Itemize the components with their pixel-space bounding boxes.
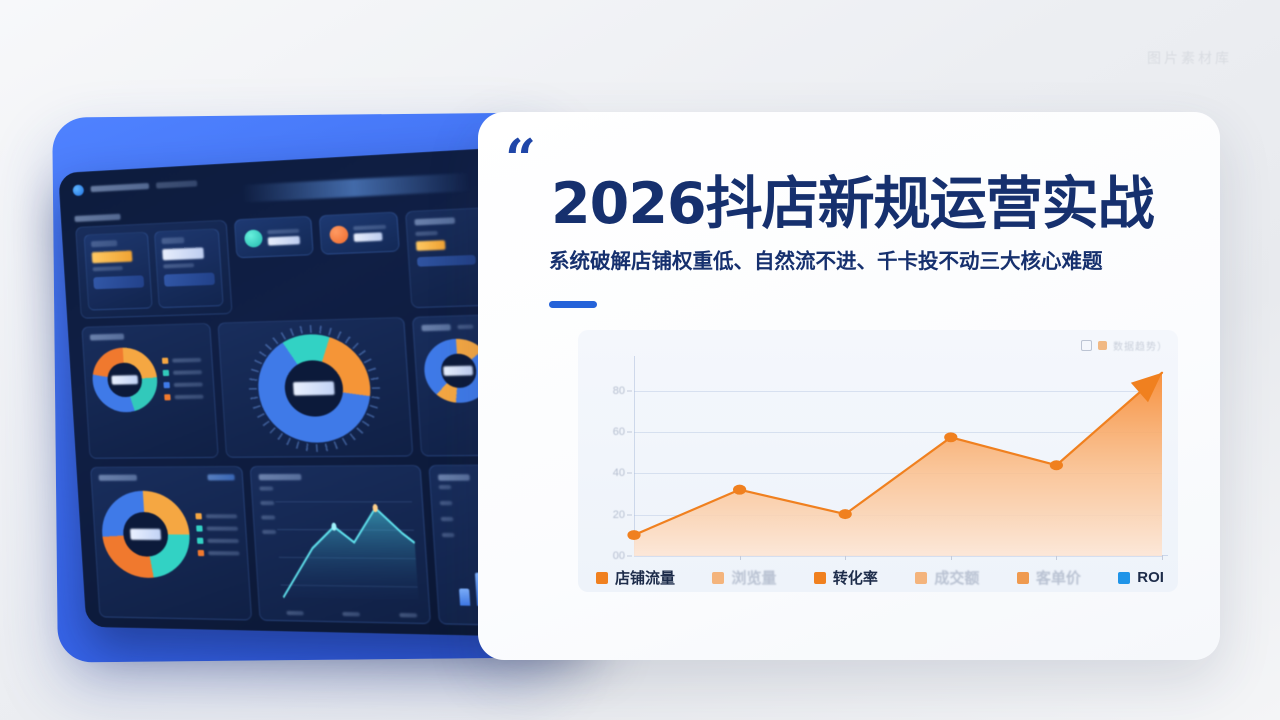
legend-label: ROI xyxy=(1137,569,1164,586)
gauge-panel xyxy=(217,317,413,458)
legend-item[interactable]: 成交额 xyxy=(915,567,979,588)
trend-point xyxy=(839,509,852,519)
metric-chip[interactable] xyxy=(318,212,399,255)
kpi-action-button[interactable] xyxy=(163,273,215,287)
panel-title xyxy=(438,474,470,481)
legend-label: 成交额 xyxy=(934,567,979,588)
chart-corner-label: 数据趋势） xyxy=(1081,338,1168,353)
donut-center-value xyxy=(111,375,138,385)
legend-item[interactable]: 浏览量 xyxy=(712,567,776,588)
donut-center-value xyxy=(130,529,161,540)
x-axis-tick xyxy=(1162,555,1163,560)
kpi-sub xyxy=(163,263,194,268)
donut-center-value xyxy=(443,366,473,376)
roi-icon xyxy=(329,225,349,244)
trend-point xyxy=(1050,460,1063,470)
quote-mark-icon: “ xyxy=(505,138,534,181)
page-subtitle: 系统破解店铺权重低、自然流不进、千卡投不动三大核心难题 xyxy=(549,244,1214,274)
orange-square-icon xyxy=(1098,341,1107,350)
kpi-value xyxy=(416,240,446,251)
donut-chart xyxy=(100,491,193,579)
legend-swatch xyxy=(596,572,608,584)
metric-chip[interactable] xyxy=(234,216,313,259)
legend-swatch xyxy=(1118,572,1130,584)
kpi-label xyxy=(91,240,117,247)
y-axis-label: 00 xyxy=(613,550,625,562)
dashboard-brand-text xyxy=(91,183,150,192)
legend-item[interactable]: 客单价 xyxy=(1017,567,1081,588)
panel-title xyxy=(422,324,452,331)
dashboard-logo-icon xyxy=(73,184,85,196)
kpi-action-button[interactable] xyxy=(417,255,477,267)
dashboard-chip-column xyxy=(234,212,403,314)
area-chart-panel xyxy=(250,465,431,624)
legend-label: 店铺流量 xyxy=(615,567,675,588)
legend-item[interactable]: ROI xyxy=(1118,569,1164,586)
right-panel-title xyxy=(414,217,455,225)
y-axis-label: 20 xyxy=(613,509,625,521)
panel-action-link[interactable] xyxy=(207,474,234,480)
area-chart xyxy=(259,480,421,616)
left-metric-panel xyxy=(81,323,218,459)
metric-chip-value xyxy=(268,235,300,245)
y-axis-tick xyxy=(627,432,632,433)
conversion-icon xyxy=(244,229,263,247)
gauge-value xyxy=(293,381,335,395)
grid-icon xyxy=(1081,340,1092,351)
donut-legend xyxy=(195,513,239,556)
metric-chip-label xyxy=(353,224,386,230)
metric-chip-label xyxy=(268,228,300,234)
chart-corner-text: 数据趋势） xyxy=(1113,338,1168,353)
legend-label: 客单价 xyxy=(1036,567,1081,588)
legend-label: 转化率 xyxy=(833,567,878,588)
kpi-sub xyxy=(93,266,123,271)
kpi-action-button[interactable] xyxy=(93,275,144,289)
kpi-card[interactable] xyxy=(154,228,224,308)
legend-swatch xyxy=(814,572,826,584)
slide-canvas: 图片素材库 xyxy=(0,0,1280,720)
legend-item[interactable]: 转化率 xyxy=(814,567,878,588)
kpi-value xyxy=(162,247,204,260)
legend-swatch xyxy=(712,572,724,584)
legend-label: 浏览量 xyxy=(731,567,776,588)
dashboard-menu-text[interactable] xyxy=(156,180,197,188)
metric-chip-value xyxy=(353,232,382,242)
trend-point xyxy=(627,530,640,540)
trend-point xyxy=(944,432,957,442)
y-axis-tick xyxy=(627,556,632,557)
legend-swatch xyxy=(1017,572,1029,584)
donut-legend xyxy=(162,357,204,401)
page-title: 2026抖店新规运营实战 xyxy=(551,158,1211,240)
kpi-panel-left xyxy=(75,220,233,319)
kpi-label xyxy=(161,237,184,244)
donut-chart xyxy=(91,347,159,413)
panel-title xyxy=(99,475,138,481)
y-axis-label: 60 xyxy=(613,426,625,438)
kpi-card[interactable] xyxy=(84,232,153,311)
kpi-value xyxy=(92,251,133,264)
watermark-label: 图片素材库 xyxy=(1147,48,1232,68)
y-axis-tick xyxy=(627,514,632,515)
legend-swatch xyxy=(915,572,927,584)
accent-divider xyxy=(549,301,597,308)
trend-area-fill xyxy=(634,373,1162,556)
bottom-donut-panel xyxy=(90,466,252,621)
gridline xyxy=(634,556,1162,557)
trend-point xyxy=(733,485,746,495)
y-axis-tick xyxy=(627,473,632,474)
chart-legend: 店铺流量 浏览量 转化率 成交额 客单价 ROI xyxy=(578,567,1178,588)
bar-item xyxy=(459,588,470,605)
dashboard-section-label xyxy=(74,214,120,222)
legend-item[interactable]: 店铺流量 xyxy=(596,567,675,588)
kpi-label xyxy=(415,231,438,236)
y-axis-tick xyxy=(627,390,632,391)
panel-title xyxy=(90,334,124,341)
trend-chart xyxy=(634,364,1162,556)
chart-panel: 数据趋势） 00 20 40 60 80 xyxy=(578,330,1178,592)
y-axis-label: 40 xyxy=(613,467,625,479)
y-axis-label: 80 xyxy=(613,385,625,397)
chart-plot-area: 00 20 40 60 80 xyxy=(634,364,1162,556)
